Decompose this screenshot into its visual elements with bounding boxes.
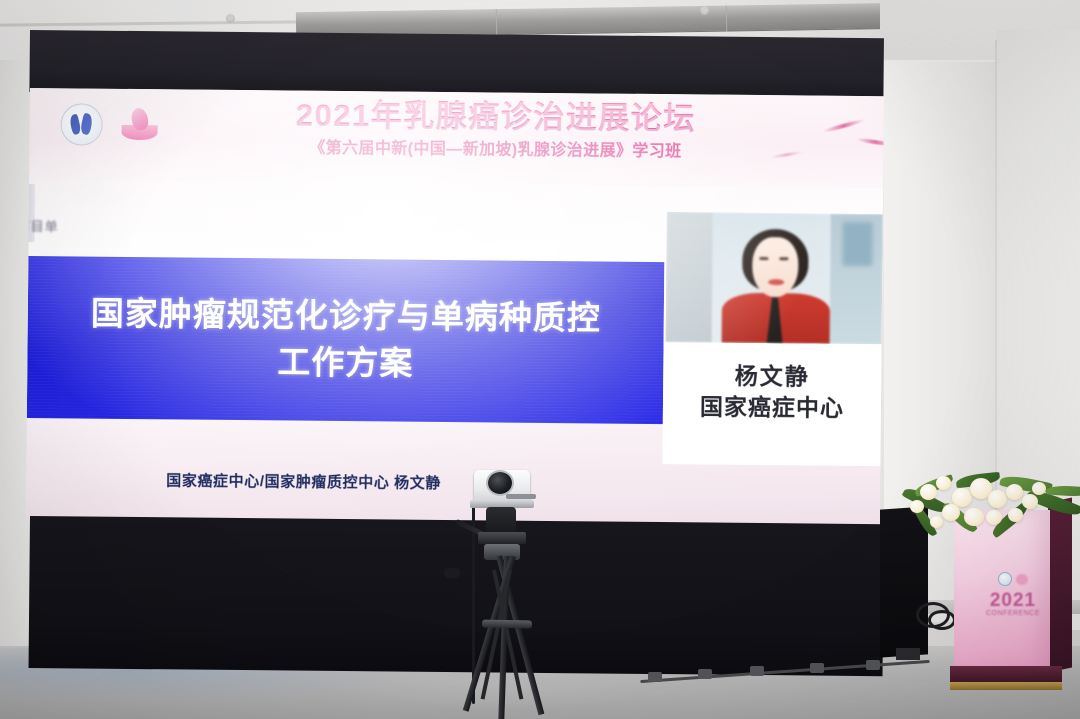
presentation-slide: 2021年乳腺癌诊治进展论坛 《第六届中新(中国—新加坡)乳腺诊治进展》学习班 … — [26, 88, 884, 528]
speaker-organization: 国家癌症中心 — [663, 391, 881, 424]
decorative-stroke — [822, 118, 865, 134]
forum-subtitle: 《第六届中新(中国—新加坡)乳腺诊治进展》学习班 — [245, 134, 745, 163]
slide-header-band: 2021年乳腺癌诊治进展论坛 《第六届中新(中国—新加坡)乳腺诊治进展》学习班 — [29, 88, 884, 188]
camera-rig — [452, 470, 602, 719]
logo-group — [61, 104, 161, 145]
ceiling-light-dot — [226, 14, 235, 23]
speaker-caption: 杨文静 国家癌症中心 — [663, 360, 882, 424]
slide-corner-tab: 节目单 — [26, 216, 59, 235]
floor-monitor-stand — [896, 648, 920, 660]
camera-lens-icon — [488, 472, 512, 494]
tripod-plate — [478, 532, 526, 544]
slide-byline: 国家癌症中心/国家肿瘤质控中心 杨文静 — [166, 469, 441, 493]
podium-emblem-icon — [998, 572, 1012, 586]
header-titles: 2021年乳腺癌诊治进展论坛 《第六届中新(中国—新加坡)乳腺诊治进展》学习班 — [245, 98, 746, 162]
floor-cable-run — [640, 654, 940, 704]
tripod-pan-knob — [444, 568, 460, 578]
podium-base-trim — [950, 682, 1062, 690]
podium: 2021 CONFERENCE — [944, 470, 1076, 700]
podium-banner-sub: CONFERENCE — [976, 610, 1050, 617]
remote-speaker-panel: 杨文静 国家癌症中心 — [662, 212, 882, 466]
institution-emblem-blue-icon — [61, 104, 101, 144]
slide-title-line-2: 工作方案 — [277, 339, 413, 387]
forum-title: 2021年乳腺癌诊治进展论坛 — [246, 98, 746, 136]
tripod-head — [486, 507, 516, 535]
decorative-stroke — [855, 137, 884, 147]
podium-year-text: 2021 — [982, 590, 1044, 612]
ceiling-light-dot — [700, 6, 709, 15]
slide-title-line-1: 国家肿瘤规范化诊疗与单病种质控 — [91, 291, 601, 343]
conference-hall-scene: 2021年乳腺癌诊治进展论坛 《第六届中新(中国—新加坡)乳腺诊治进展》学习班 … — [0, 0, 1080, 719]
podium-emblem-pink-icon — [1016, 574, 1028, 585]
decorative-stroke — [769, 150, 803, 159]
slide-title-block: 国家肿瘤规范化诊疗与单病种质控 工作方案 — [27, 256, 665, 424]
floral-arrangement — [896, 464, 1080, 556]
ceiling-seam — [0, 20, 300, 26]
lotus-emblem-pink-icon — [117, 105, 161, 145]
remote-speaker-video — [666, 212, 883, 344]
tripod-spreader — [482, 620, 532, 629]
speaker-name: 杨文静 — [663, 360, 881, 393]
